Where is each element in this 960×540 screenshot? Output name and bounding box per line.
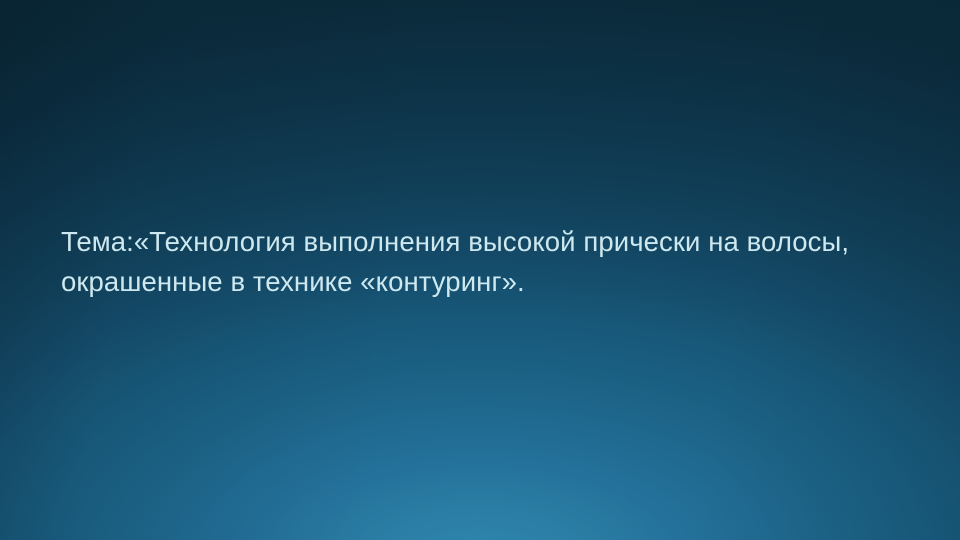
slide-title-block[interactable]: Тема:«Технология выполнения высокой прич… (61, 222, 851, 302)
presentation-slide: Тема:«Технология выполнения высокой прич… (0, 0, 960, 540)
slide-title-text: Тема:«Технология выполнения высокой прич… (61, 222, 851, 302)
